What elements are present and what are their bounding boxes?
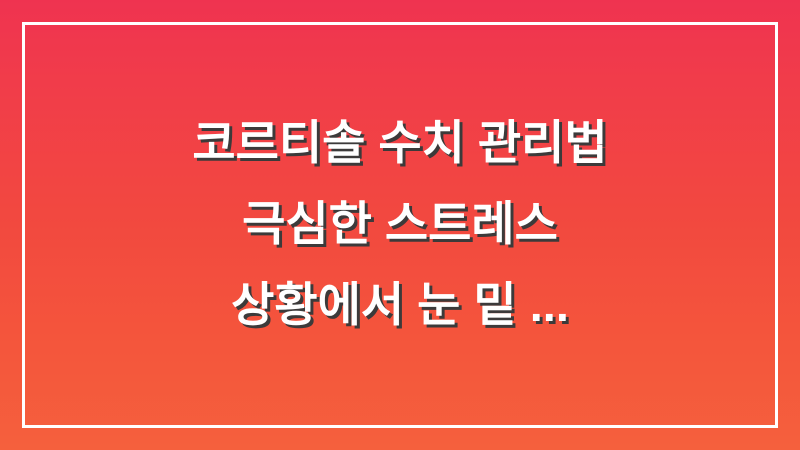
title-line-2: 극심한 스트레스 [242,200,558,247]
thumbnail-card: 코르티솔 수치 관리법 극심한 스트레스 상황에서 눈 밑 ... [0,0,800,450]
title-line-3: 상황에서 눈 밑 ... [231,281,569,328]
title-block: 코르티솔 수치 관리법 극심한 스트레스 상황에서 눈 밑 ... [0,0,800,450]
title-line-1: 코르티솔 수치 관리법 [192,119,607,166]
